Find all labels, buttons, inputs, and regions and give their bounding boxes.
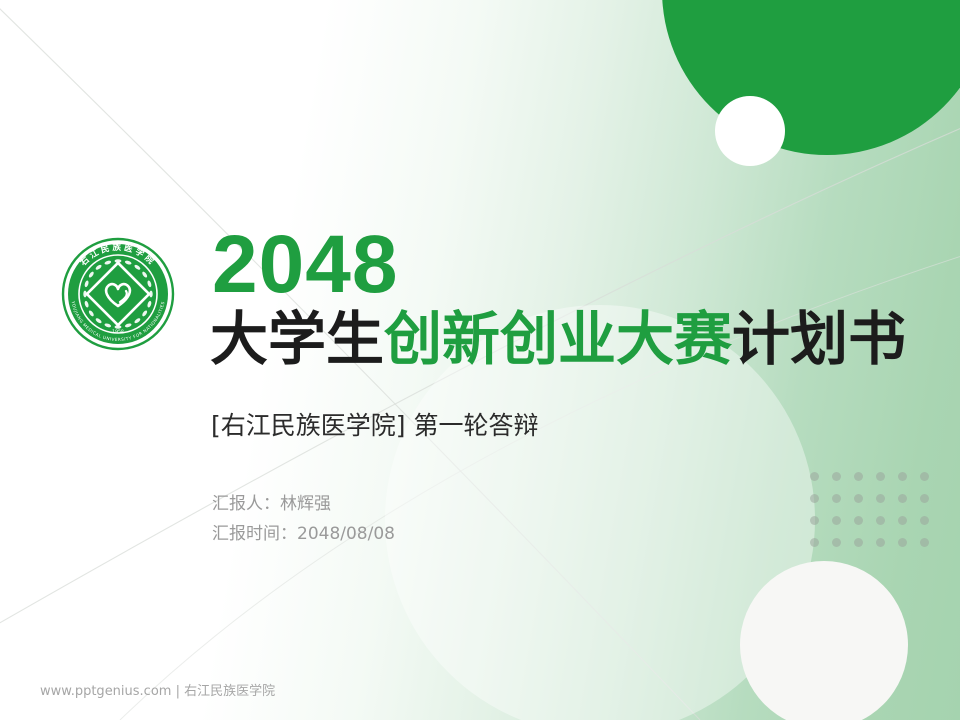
dot-grid-decoration: [810, 472, 942, 560]
presentation-slide: 右江民族医学院 YOUJIANG MEDICAL UNIVERSITY FOR …: [0, 0, 960, 720]
title-part-highlight: 创新创业大赛: [384, 305, 732, 373]
date-line: 汇报时间：2048/08/08: [212, 520, 395, 550]
slide-footer: www.pptgenius.com | 右江民族医学院: [40, 680, 275, 699]
green-circle-decoration: [662, 0, 960, 155]
logo-year: 1958: [112, 329, 124, 335]
slide-year: 2048: [212, 224, 398, 306]
presenter-line: 汇报人：林辉强: [212, 490, 395, 520]
white-dot-decoration: [715, 96, 785, 166]
title-part-plain-2: 计划书: [732, 305, 906, 373]
white-circle-decoration: [740, 561, 908, 720]
slide-title: 大学生创新创业大赛计划书: [210, 308, 906, 371]
slide-meta: 汇报人：林辉强 汇报时间：2048/08/08: [212, 490, 395, 550]
university-emblem-icon: 右江民族医学院 YOUJIANG MEDICAL UNIVERSITY FOR …: [56, 232, 180, 356]
title-part-plain-1: 大学生: [210, 305, 384, 373]
university-logo: 右江民族医学院 YOUJIANG MEDICAL UNIVERSITY FOR …: [56, 232, 180, 356]
slide-subtitle: [右江民族医学院] 第一轮答辩: [211, 406, 538, 442]
